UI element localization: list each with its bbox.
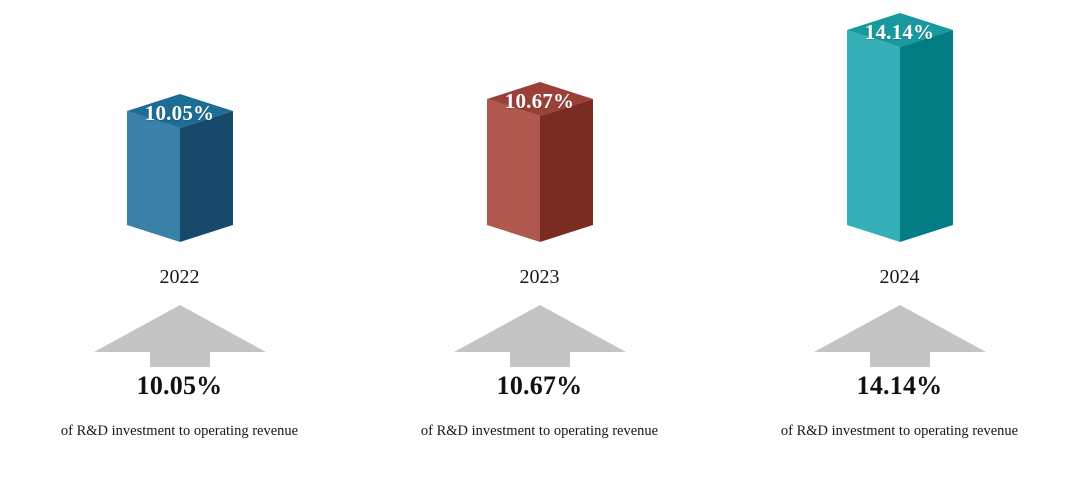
bar-face-left xyxy=(847,30,900,242)
percent-value-2024: 14.14% xyxy=(720,371,1079,401)
bar-face-left xyxy=(127,111,180,242)
metric-column-2022: 10.05% 2022 10.05% of R&D investment to … xyxy=(0,0,359,490)
bar-face-right xyxy=(180,111,233,242)
metric-column-2024: 14.14% 2024 14.14% of R&D investment to … xyxy=(720,0,1079,490)
up-arrow-icon xyxy=(814,305,986,367)
bar-3d-2024: 14.14% xyxy=(847,13,953,259)
bar-3d-svg-2024 xyxy=(847,13,953,259)
up-arrow-icon-2024 xyxy=(814,305,986,367)
percent-value-2022: 10.05% xyxy=(0,371,359,401)
year-label-2022: 2022 xyxy=(0,266,359,288)
bar-3d-svg-2023 xyxy=(487,82,593,259)
metric-column-2023: 10.67% 2023 10.67% of R&D investment to … xyxy=(360,0,719,490)
up-arrow-icon xyxy=(94,305,266,367)
up-arrow-icon-2023 xyxy=(454,305,626,367)
bar-3d-2022: 10.05% xyxy=(127,94,233,259)
bar-face-left xyxy=(487,99,540,242)
year-label-2024: 2024 xyxy=(720,266,1079,288)
up-arrow-icon-2022 xyxy=(94,305,266,367)
percent-value-2023: 10.67% xyxy=(360,371,719,401)
caption-2022: of R&D investment to operating revenue xyxy=(51,422,309,442)
bar-face-right xyxy=(540,99,593,242)
bar-face-right xyxy=(900,30,953,242)
caption-2024: of R&D investment to operating revenue xyxy=(771,422,1029,442)
bar-3d-svg-2022 xyxy=(127,94,233,259)
year-label-2023: 2023 xyxy=(360,266,719,288)
infographic-canvas: 10.05% 2022 10.05% of R&D investment to … xyxy=(0,0,1079,490)
bar-3d-2023: 10.67% xyxy=(487,82,593,259)
up-arrow-icon xyxy=(454,305,626,367)
caption-2023: of R&D investment to operating revenue xyxy=(411,422,669,442)
